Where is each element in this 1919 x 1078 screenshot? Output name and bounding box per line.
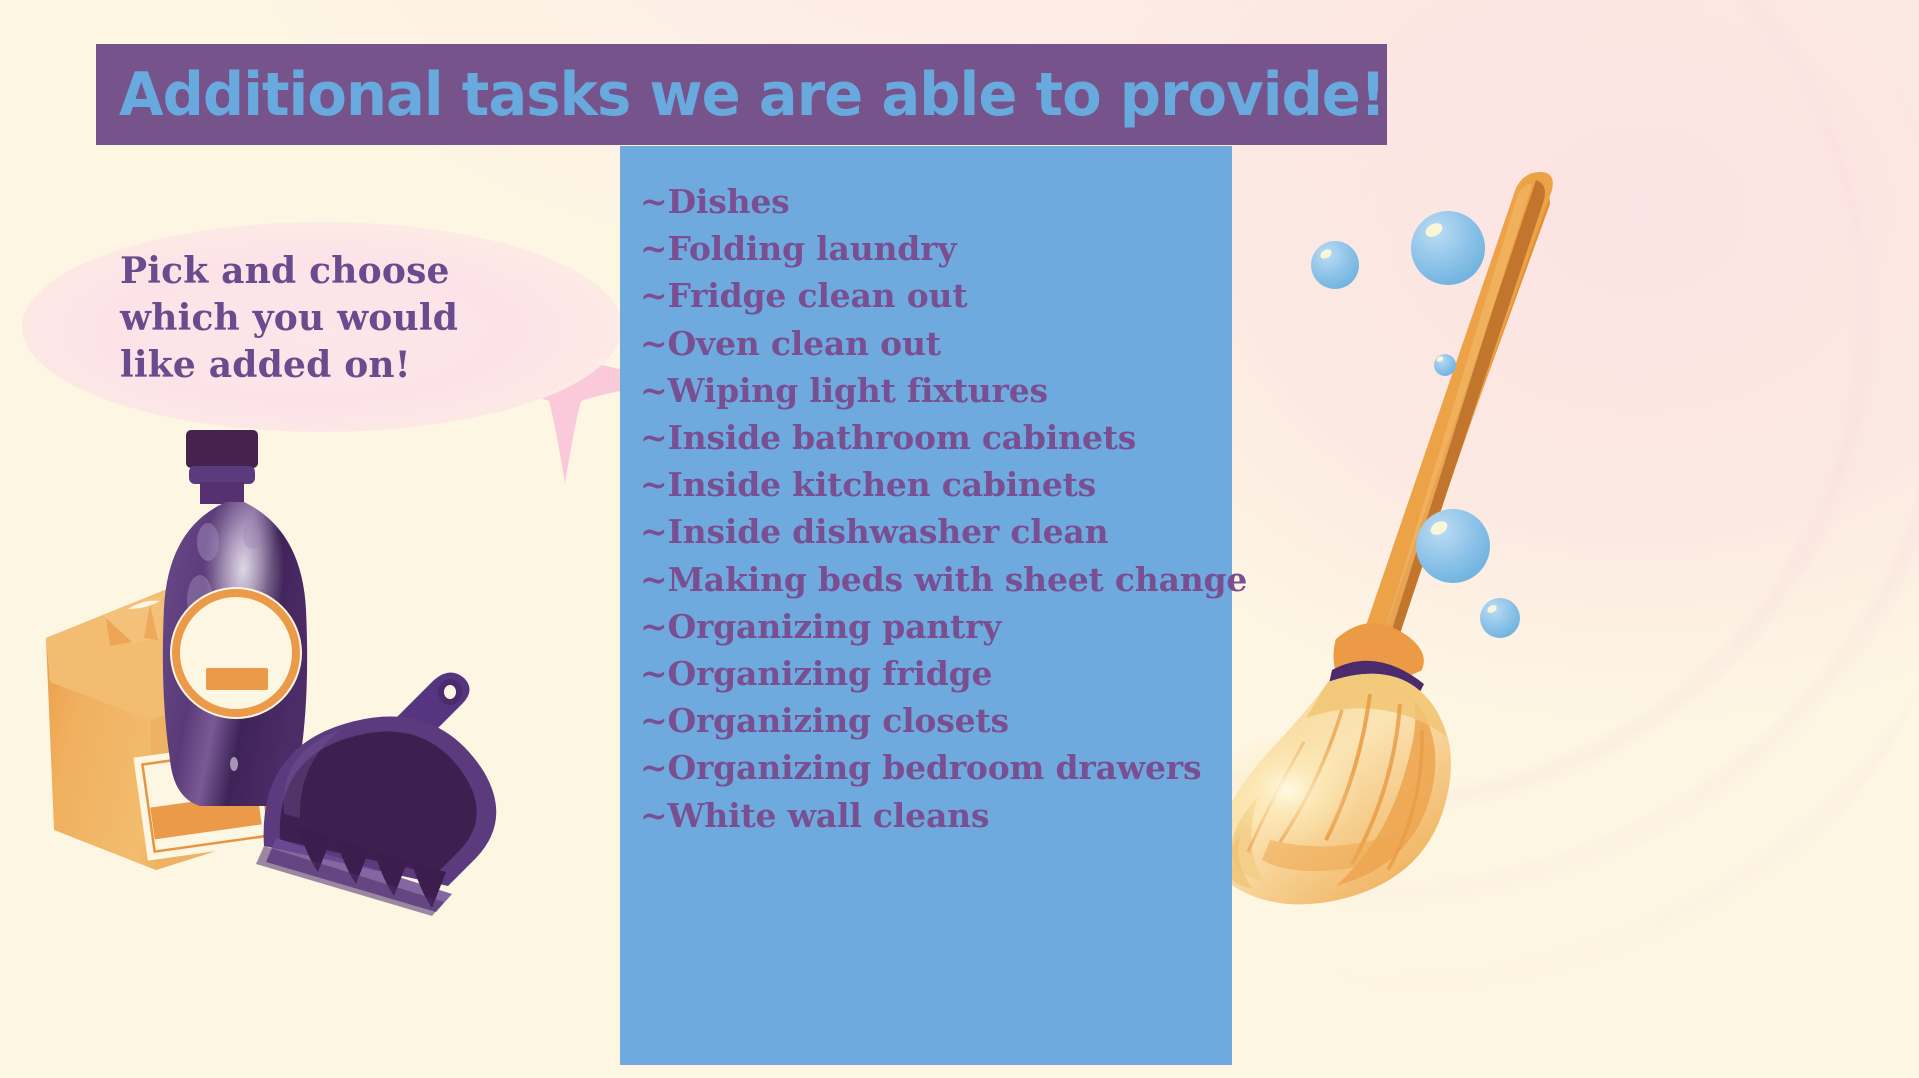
task-list-item: ~Organizing fridge xyxy=(640,650,1240,697)
task-list-item: ~Making beds with sheet change xyxy=(640,556,1240,603)
task-list-item: ~Folding laundry xyxy=(640,225,1240,272)
task-list-item: ~Inside dishwasher clean xyxy=(640,508,1240,555)
soap-bubble-icon xyxy=(1434,354,1456,376)
speech-bubble-line: which you would xyxy=(120,295,540,342)
page-title: Additional tasks we are able to provide! xyxy=(96,65,1385,125)
soap-bubble-icon xyxy=(1411,211,1485,286)
speech-bubble-text: Pick and choose which you would like add… xyxy=(120,248,540,389)
task-list-item: ~Wiping light fixtures xyxy=(640,367,1240,414)
speech-bubble-line: Pick and choose xyxy=(120,248,540,295)
task-list-item: ~Dishes xyxy=(640,178,1240,225)
task-list-item: ~Organizing bedroom drawers xyxy=(640,744,1240,791)
speech-bubble-line: like added on! xyxy=(120,342,540,389)
broom-and-bubbles-illustration xyxy=(1210,170,1919,870)
task-list-item: ~Fridge clean out xyxy=(640,272,1240,319)
task-list-item: ~Inside kitchen cabinets xyxy=(640,461,1240,508)
task-list-item: ~Organizing pantry xyxy=(640,603,1240,650)
cleaning-supplies-illustration xyxy=(40,430,560,890)
poster-canvas: Pick and choose which you would like add… xyxy=(0,0,1919,1078)
detergent-bottle-icon xyxy=(163,430,307,806)
task-list-item: ~Organizing closets xyxy=(640,697,1240,744)
soap-bubble-icon xyxy=(1416,509,1490,584)
title-banner: Additional tasks we are able to provide! xyxy=(96,44,1387,145)
task-list-item: ~Oven clean out xyxy=(640,320,1240,367)
soap-bubble-icon xyxy=(1311,241,1359,290)
tasks-list: ~Dishes ~Folding laundry ~Fridge clean o… xyxy=(640,178,1240,839)
soap-bubble-icon xyxy=(1480,598,1520,640)
broom-bristles-icon xyxy=(1214,674,1451,905)
task-list-item: ~White wall cleans xyxy=(640,792,1240,839)
task-list-item: ~Inside bathroom cabinets xyxy=(640,414,1240,461)
